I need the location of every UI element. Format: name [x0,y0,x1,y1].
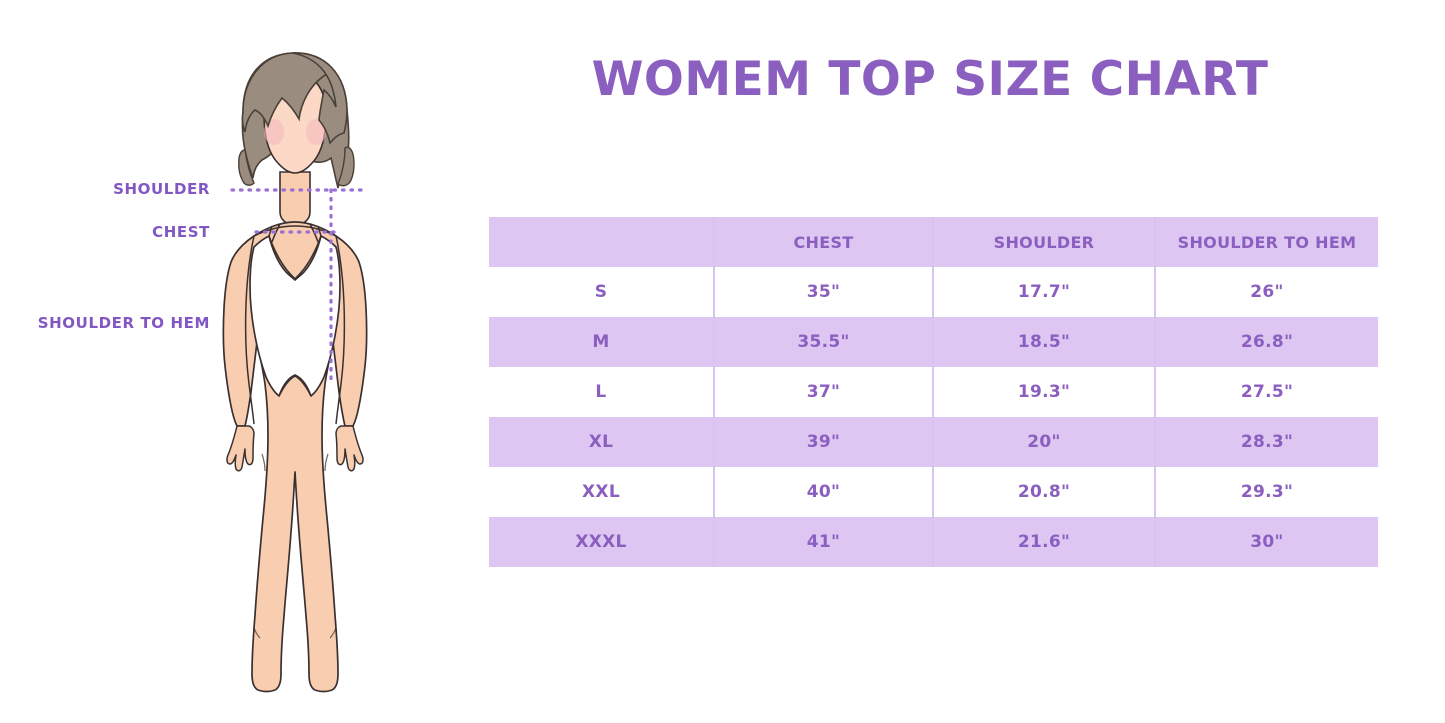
knee-left-line [262,454,265,471]
body-figure-svg [150,40,450,700]
table-row: XL 39" 20" 28.3" [489,417,1378,467]
size-chart-page: WOMEM TOP SIZE CHART [0,0,1445,723]
column-header-shoulder: SHOULDER [933,217,1155,267]
column-header-size [489,217,714,267]
page-title: WOMEM TOP SIZE CHART [470,52,1390,107]
table-row: L 37" 19.3" 27.5" [489,367,1378,417]
cell-size: XXXL [489,517,714,567]
measurement-label-shoulder: SHOULDER [0,180,210,198]
cell-size: S [489,267,714,317]
cell-chest: 41" [714,517,933,567]
cell-shoulder: 19.3" [933,367,1155,417]
knee-right-line [325,454,328,471]
cell-shoulder-to-hem: 29.3" [1155,467,1378,517]
cell-shoulder-to-hem: 27.5" [1155,367,1378,417]
female-body-illustration [150,40,450,700]
cell-shoulder: 17.7" [933,267,1155,317]
hand-right [336,426,363,471]
column-header-shoulder-to-hem: SHOULDER TO HEM [1155,217,1378,267]
cell-shoulder: 18.5" [933,317,1155,367]
measurement-label-chest: CHEST [0,223,210,241]
cell-chest: 39" [714,417,933,467]
cell-shoulder-to-hem: 26" [1155,267,1378,317]
table-row: XXL 40" 20.8" 29.3" [489,467,1378,517]
cell-chest: 35" [714,267,933,317]
table-header: CHEST SHOULDER SHOULDER TO HEM [489,217,1378,267]
column-header-chest: CHEST [714,217,933,267]
table-row: M 35.5" 18.5" 26.8" [489,317,1378,367]
cell-size: L [489,367,714,417]
cell-shoulder-to-hem: 30" [1155,517,1378,567]
table-body: S 35" 17.7" 26" M 35.5" 18.5" 26.8" L 37… [489,267,1378,567]
cell-chest: 40" [714,467,933,517]
cell-shoulder: 20.8" [933,467,1155,517]
cell-shoulder-to-hem: 28.3" [1155,417,1378,467]
cell-chest: 35.5" [714,317,933,367]
table-row: S 35" 17.7" 26" [489,267,1378,317]
cell-size: M [489,317,714,367]
cell-shoulder: 20" [933,417,1155,467]
table-row: XXXL 41" 21.6" 30" [489,517,1378,567]
cell-size: XXL [489,467,714,517]
measurement-label-shoulder-to-hem: SHOULDER TO HEM [0,314,210,332]
table-header-row: CHEST SHOULDER SHOULDER TO HEM [489,217,1378,267]
neck [280,172,310,225]
cell-chest: 37" [714,367,933,417]
size-chart-table: CHEST SHOULDER SHOULDER TO HEM S 35" 17.… [489,217,1378,567]
cell-size: XL [489,417,714,467]
cell-shoulder-to-hem: 26.8" [1155,317,1378,367]
hand-left [227,426,254,471]
cell-shoulder: 21.6" [933,517,1155,567]
